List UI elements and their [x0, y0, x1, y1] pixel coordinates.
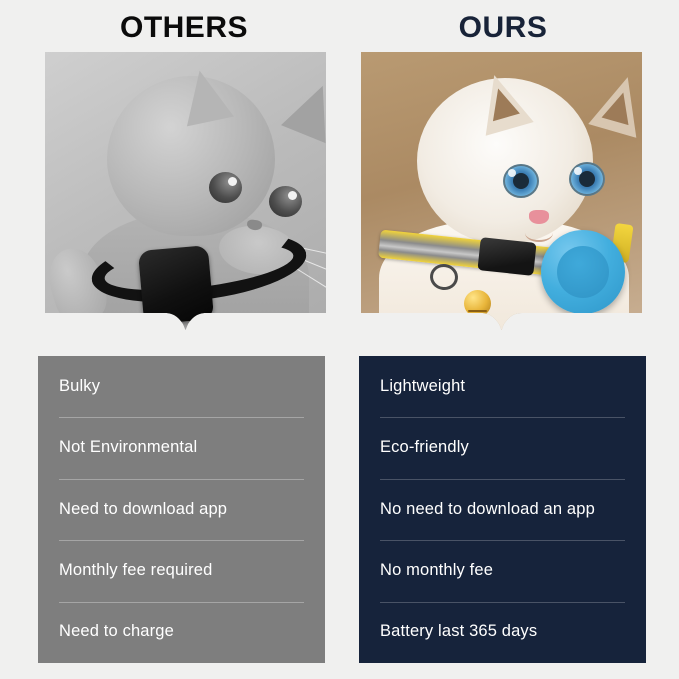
- photo-ours-ragdoll-cat: [361, 52, 642, 330]
- cat-ear-right: [281, 77, 326, 143]
- bulky-gps-tracker-box: [138, 245, 214, 325]
- feature-row: Bulky: [59, 356, 304, 417]
- cat-ear-left: [176, 66, 234, 127]
- feature-label: Lightweight: [380, 377, 465, 397]
- photo-clip-ours: [361, 52, 642, 330]
- collar-buckle: [477, 237, 536, 276]
- comparison-infographic: OTHERS OURS: [0, 0, 679, 679]
- feature-label: No need to download an app: [380, 500, 595, 520]
- cat-eye-right: [269, 186, 302, 217]
- feature-label: Not Environmental: [59, 438, 197, 458]
- column-heading-ours: OURS: [363, 13, 643, 43]
- cat-nose: [529, 210, 549, 224]
- feature-label: Battery last 365 days: [380, 622, 537, 642]
- feature-label: Need to charge: [59, 622, 174, 642]
- feature-row: Monthly fee required: [59, 540, 304, 601]
- feature-row: Not Environmental: [59, 417, 304, 478]
- column-heading-others: OTHERS: [44, 13, 324, 43]
- collar-bell: [464, 290, 491, 317]
- cat-eye-glint-right: [574, 167, 582, 175]
- feature-label: Bulky: [59, 377, 100, 397]
- cat-head: [417, 78, 593, 244]
- feature-row: Battery last 365 days: [380, 602, 625, 663]
- cat-ear-right: [588, 70, 642, 138]
- feature-label: Eco-friendly: [380, 438, 469, 458]
- cat-pupil-right: [579, 171, 595, 187]
- feature-row: Need to download app: [59, 479, 304, 540]
- cat-head: [107, 76, 275, 236]
- feature-panel-ours: Lightweight Eco-friendly No need to down…: [359, 356, 646, 663]
- feature-row: No monthly fee: [380, 540, 625, 601]
- cat-ear-tip-right: [602, 89, 637, 126]
- blue-tracker-holder: [541, 230, 625, 314]
- photo-clip-others: [45, 52, 326, 330]
- cat-eye-glint-left: [508, 169, 516, 177]
- cat-ear-left: [470, 68, 533, 136]
- feature-label: No monthly fee: [380, 561, 493, 581]
- feature-row: Eco-friendly: [380, 417, 625, 478]
- cat-mouth: [525, 224, 553, 242]
- feature-row: Need to charge: [59, 602, 304, 663]
- cat-pupil-left: [513, 173, 529, 189]
- feature-row: Lightweight: [380, 356, 625, 417]
- photo-card-others: [45, 52, 326, 330]
- feature-label: Need to download app: [59, 500, 227, 520]
- feature-row: No need to download an app: [380, 479, 625, 540]
- cat-eye-right: [569, 162, 605, 196]
- feature-panel-others: Bulky Not Environmental Need to download…: [38, 356, 325, 663]
- cat-ear-tip-left: [485, 85, 520, 122]
- cat-eye-left: [503, 164, 539, 198]
- photo-card-ours: [361, 52, 642, 330]
- photo-others-greyscale-cat: [45, 52, 326, 330]
- cat-eye-left: [209, 172, 242, 203]
- feature-label: Monthly fee required: [59, 561, 212, 581]
